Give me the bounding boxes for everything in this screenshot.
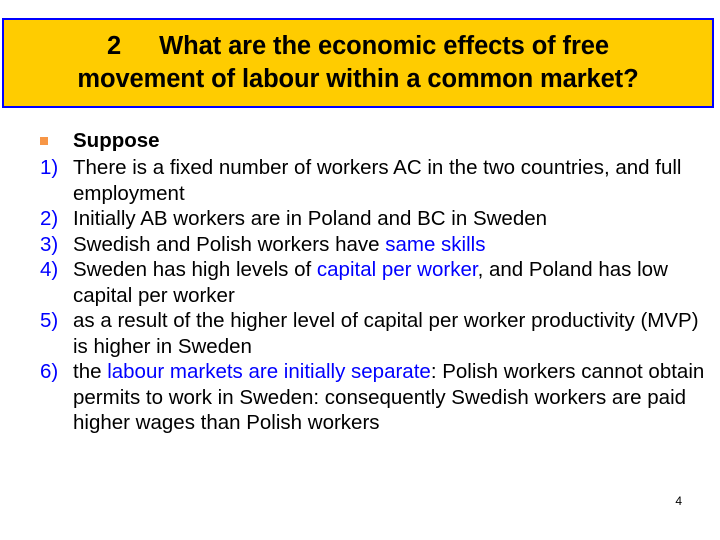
list-item-marker: 1) — [40, 155, 73, 181]
slide-title-banner: 2 What are the economic effects of free … — [2, 18, 714, 108]
bullet-item-suppose-label: Suppose — [73, 128, 160, 153]
slide-title-line-2: movement of labour within a common marke… — [77, 63, 638, 96]
list-item-marker: 3) — [40, 232, 73, 258]
highlighted-phrase: labour markets are initially separate — [107, 360, 431, 383]
slide-body: Suppose 1)There is a fixed number of wor… — [0, 128, 720, 436]
plain-phrase: There is a fixed number of workers AC in… — [73, 156, 681, 205]
page-number: 4 — [675, 494, 682, 508]
list-item-marker: 4) — [40, 257, 73, 283]
numbered-list-item: 6)the labour markets are initially separ… — [0, 359, 720, 436]
list-item-text: Swedish and Polish workers have same ski… — [73, 232, 706, 258]
list-item-marker: 2) — [40, 206, 73, 232]
list-item-text: Sweden has high levels of capital per wo… — [73, 257, 706, 308]
numbered-list-item: 5)as a result of the higher level of cap… — [0, 308, 720, 359]
list-item-marker: 6) — [40, 359, 73, 385]
numbered-list-item: 4)Sweden has high levels of capital per … — [0, 257, 720, 308]
slide-title-line-1: 2 What are the economic effects of free — [107, 30, 609, 63]
highlighted-phrase: same skills — [385, 233, 485, 256]
numbered-list-item: 1)There is a fixed number of workers AC … — [0, 155, 720, 206]
list-item-text: the labour markets are initially separat… — [73, 359, 706, 436]
numbered-list-item: 3)Swedish and Polish workers have same s… — [0, 232, 720, 258]
numbered-list: 1)There is a fixed number of workers AC … — [0, 155, 720, 436]
list-item-text: There is a fixed number of workers AC in… — [73, 155, 706, 206]
plain-phrase: the — [73, 360, 107, 383]
list-item-text: as a result of the higher level of capit… — [73, 308, 706, 359]
square-bullet-icon — [40, 128, 73, 145]
plain-phrase: as a result of the higher level of capit… — [73, 309, 699, 358]
list-item-text: Initially AB workers are in Poland and B… — [73, 206, 706, 232]
highlighted-phrase: capital per worker — [317, 258, 478, 281]
list-item-marker: 5) — [40, 308, 73, 334]
numbered-list-item: 2)Initially AB workers are in Poland and… — [0, 206, 720, 232]
bullet-item-suppose: Suppose — [0, 128, 720, 153]
plain-phrase: Sweden has high levels of — [73, 258, 317, 281]
plain-phrase: Initially AB workers are in Poland and B… — [73, 207, 547, 230]
plain-phrase: Swedish and Polish workers have — [73, 233, 385, 256]
